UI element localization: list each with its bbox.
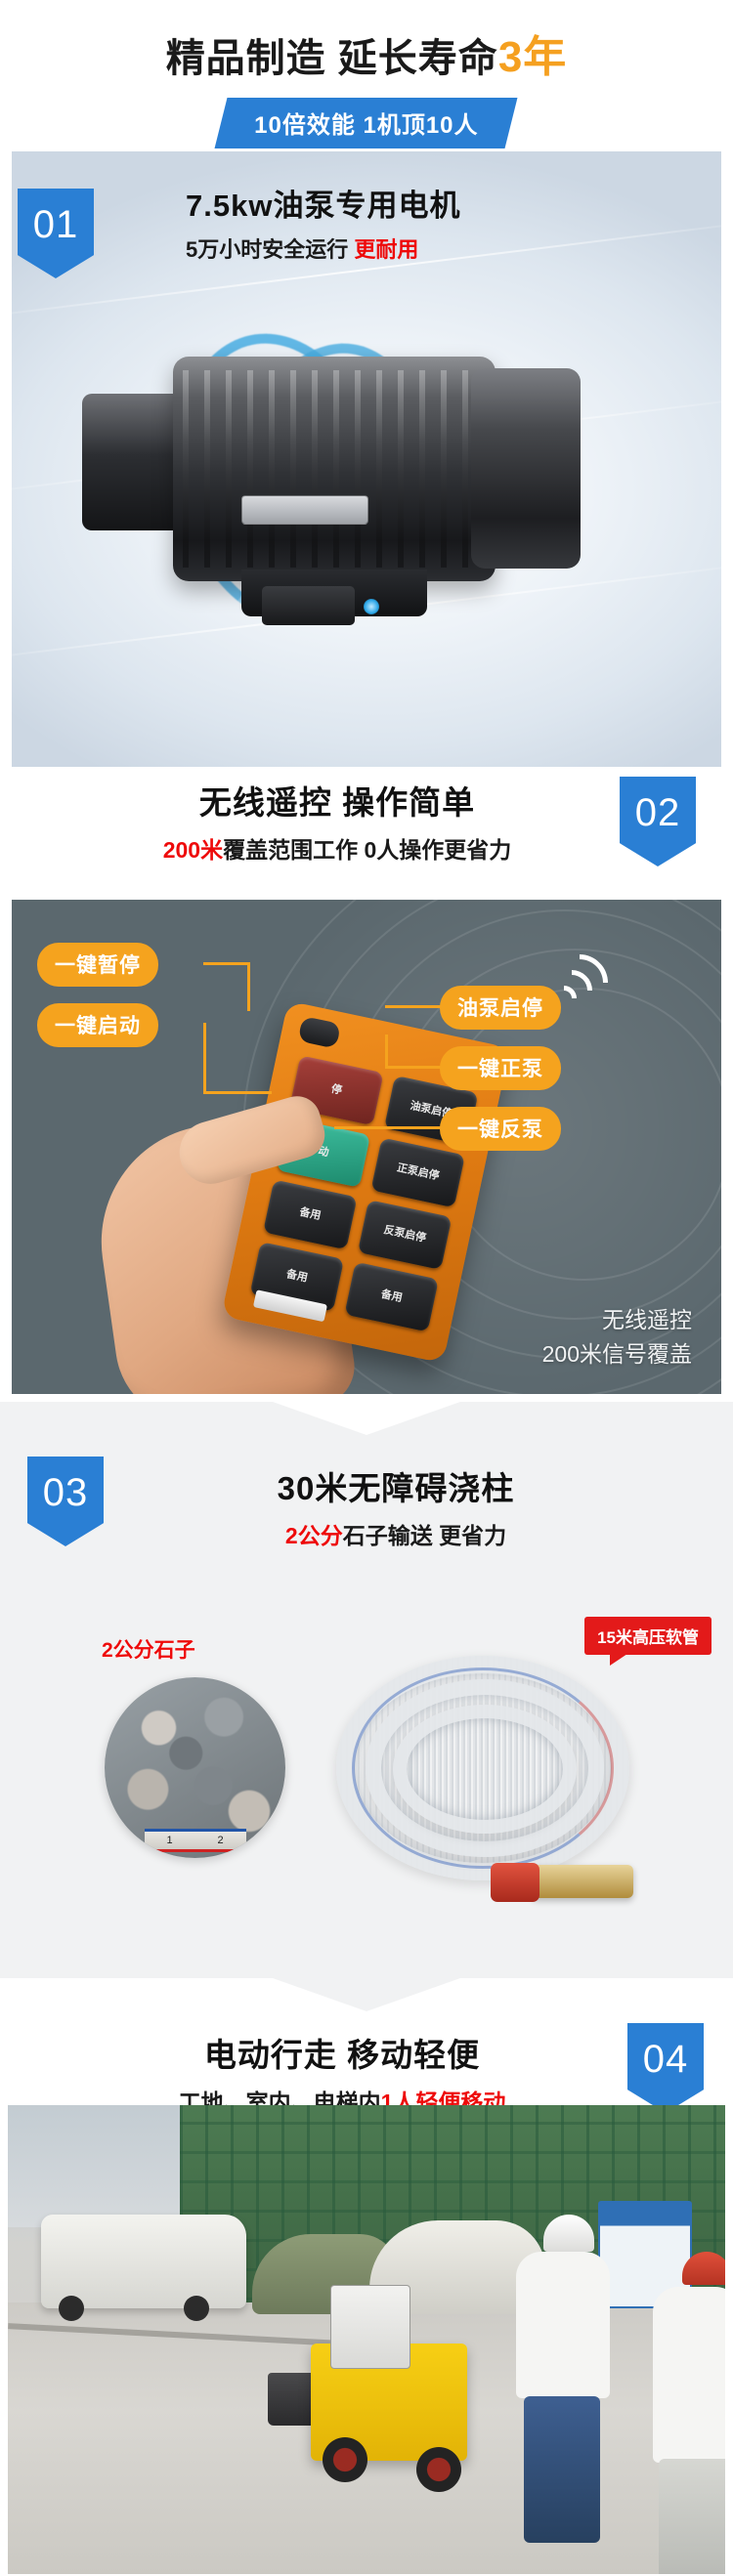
machine-wheel: [416, 2447, 461, 2492]
remote-caption-line2: 200米信号覆盖: [542, 1337, 692, 1372]
callout-pump-start-stop: 油泵启停: [440, 986, 561, 1030]
section-02-subtitle: 200米覆盖范围工作 0人操作更省力: [0, 831, 674, 865]
section-01-subtitle-black: 5万小时安全运行: [186, 237, 354, 262]
product-detail-page: 精品制造 延长寿命3年 10倍效能 1机顶10人: [0, 0, 733, 2576]
jobsite-photo: [8, 2105, 725, 2574]
remote-control-photo: 停 油泵启停 动 正泵启停 备用 反泵启停 备用 备用 一键暂停 一键启动: [12, 900, 721, 1394]
callout-leader-line: [203, 1023, 206, 1093]
section-02-heading: 02 无线遥控 操作简单 200米覆盖范围工作 0人操作更省力: [0, 767, 733, 894]
section-04: 04 电动行走 移动轻便 工地、室内、电梯内1人轻便移动: [0, 1978, 733, 2576]
header-banner-label: 10倍效能 1机顶10人: [254, 106, 478, 140]
section-03-heading: 03 30米无障碍浇柱 2公分石子输送 更省力: [0, 1402, 733, 1539]
callout-leader-line: [203, 1091, 272, 1094]
section-03: 03 30米无障碍浇柱 2公分石子输送 更省力 2公分石子 1 2: [0, 1402, 733, 1978]
indicator-light-icon: [364, 599, 379, 614]
section-01-subtitle-red: 更耐用: [354, 237, 418, 262]
callout-forward-pump: 一键正泵: [440, 1046, 561, 1090]
section-01-subtitle: 5万小时安全运行 更耐用: [186, 232, 460, 264]
section-01: 01 7.5kw油泵专用电机 5万小时安全运行 更耐用: [0, 151, 733, 767]
callout-leader-line: [385, 1035, 388, 1068]
section-02-title: 无线遥控 操作简单: [0, 777, 674, 823]
ruler-scale: 1 2: [145, 1829, 246, 1852]
hose-end-fitting: [491, 1863, 539, 1902]
gravel-label: 2公分石子: [102, 1634, 195, 1664]
hose-stripe: [352, 1668, 614, 1869]
motor-fan-cover: [471, 368, 581, 569]
ruler-mark: 1: [166, 1835, 172, 1846]
concrete-pump-machine: [289, 2291, 485, 2486]
section-01-titles: 7.5kw油泵专用电机 5万小时安全运行 更耐用: [186, 181, 460, 264]
callout-one-key-pause: 一键暂停: [37, 943, 158, 987]
page-title-main: 精品制造 延长寿命: [166, 37, 498, 80]
remote-screw: [298, 1016, 342, 1049]
hose-coupler: [532, 1865, 633, 1898]
page-header: 精品制造 延长寿命3年 10倍效能 1机顶10人: [0, 0, 733, 151]
remote-key[interactable]: 反泵启停: [358, 1200, 453, 1270]
motor-nameplate: [241, 495, 368, 525]
section-04-title: 电动行走 移动轻便: [0, 2029, 684, 2076]
remote-caption-line1: 无线遥控: [542, 1303, 692, 1337]
section-02-subtitle-red: 200米: [163, 837, 223, 863]
section-badge-01: 01: [18, 189, 94, 278]
section-03-titles: 30米无障碍浇柱 2公分石子输送 更省力: [0, 1462, 733, 1550]
motor-cooling-fins: [173, 357, 496, 581]
hose-length-tag: 15米高压软管: [584, 1617, 711, 1655]
section-01-title: 7.5kw油泵专用电机: [186, 181, 460, 225]
callout-one-key-start: 一键启动: [37, 1003, 158, 1047]
callout-reverse-pump: 一键反泵: [440, 1107, 561, 1151]
white-van: [41, 2215, 246, 2308]
worker-bystander: [653, 2287, 725, 2463]
worker-operator: [516, 2252, 610, 2398]
callout-leader-line: [203, 962, 250, 965]
section-03-title: 30米无障碍浇柱: [59, 1462, 733, 1509]
high-pressure-hose-photo: [323, 1634, 665, 1908]
motor-terminal-box: [262, 586, 355, 625]
page-title-accent: 3年: [498, 33, 567, 81]
remote-key[interactable]: 备用: [263, 1180, 358, 1250]
remote-keypad: 停 油泵启停 动 正泵启停 备用 反泵启停 备用 备用: [250, 1055, 479, 1331]
remote-key[interactable]: 备用: [344, 1262, 439, 1332]
remote-caption: 无线遥控 200米信号覆盖: [542, 1303, 692, 1371]
callout-leader-line: [334, 1126, 444, 1129]
section-03-subtitle: 2公分石子输送 更省力: [59, 1517, 733, 1550]
section-01-heading: 01 7.5kw油泵专用电机 5万小时安全运行 更耐用: [0, 181, 733, 288]
section-03-subtitle-red: 2公分: [285, 1523, 343, 1548]
machine-control-panel: [330, 2285, 410, 2369]
oil-pump-motor-illustration: [70, 347, 676, 620]
section-04-titles: 电动行走 移动轻便 工地、室内、电梯内1人轻便移动: [0, 2029, 733, 2117]
machine-wheel: [323, 2437, 367, 2482]
page-title: 精品制造 延长寿命3年: [0, 0, 733, 84]
section-02-subtitle-black: 覆盖范围工作 0人操作更省力: [223, 837, 511, 863]
callout-leader-line: [385, 1066, 442, 1069]
section-02: 02 无线遥控 操作简单 200米覆盖范围工作 0人操作更省力: [0, 767, 733, 1402]
section-04-heading: 04 电动行走 移动轻便 工地、室内、电梯内1人轻便移动: [0, 1978, 733, 2105]
section-03-subtitle-black: 石子输送 更省力: [343, 1523, 506, 1548]
gravel-photo: 1 2: [105, 1677, 285, 1858]
motor-body: [173, 357, 496, 581]
header-banner-wrap: 10倍效能 1机顶10人: [0, 98, 733, 148]
header-banner: 10倍效能 1机顶10人: [215, 98, 518, 148]
section-03-imagery: 2公分石子 1 2 15米高压软管: [0, 1607, 733, 1968]
ruler-mark: 2: [217, 1835, 223, 1846]
callout-leader-line: [385, 1005, 442, 1008]
callout-leader-line: [247, 962, 250, 1011]
